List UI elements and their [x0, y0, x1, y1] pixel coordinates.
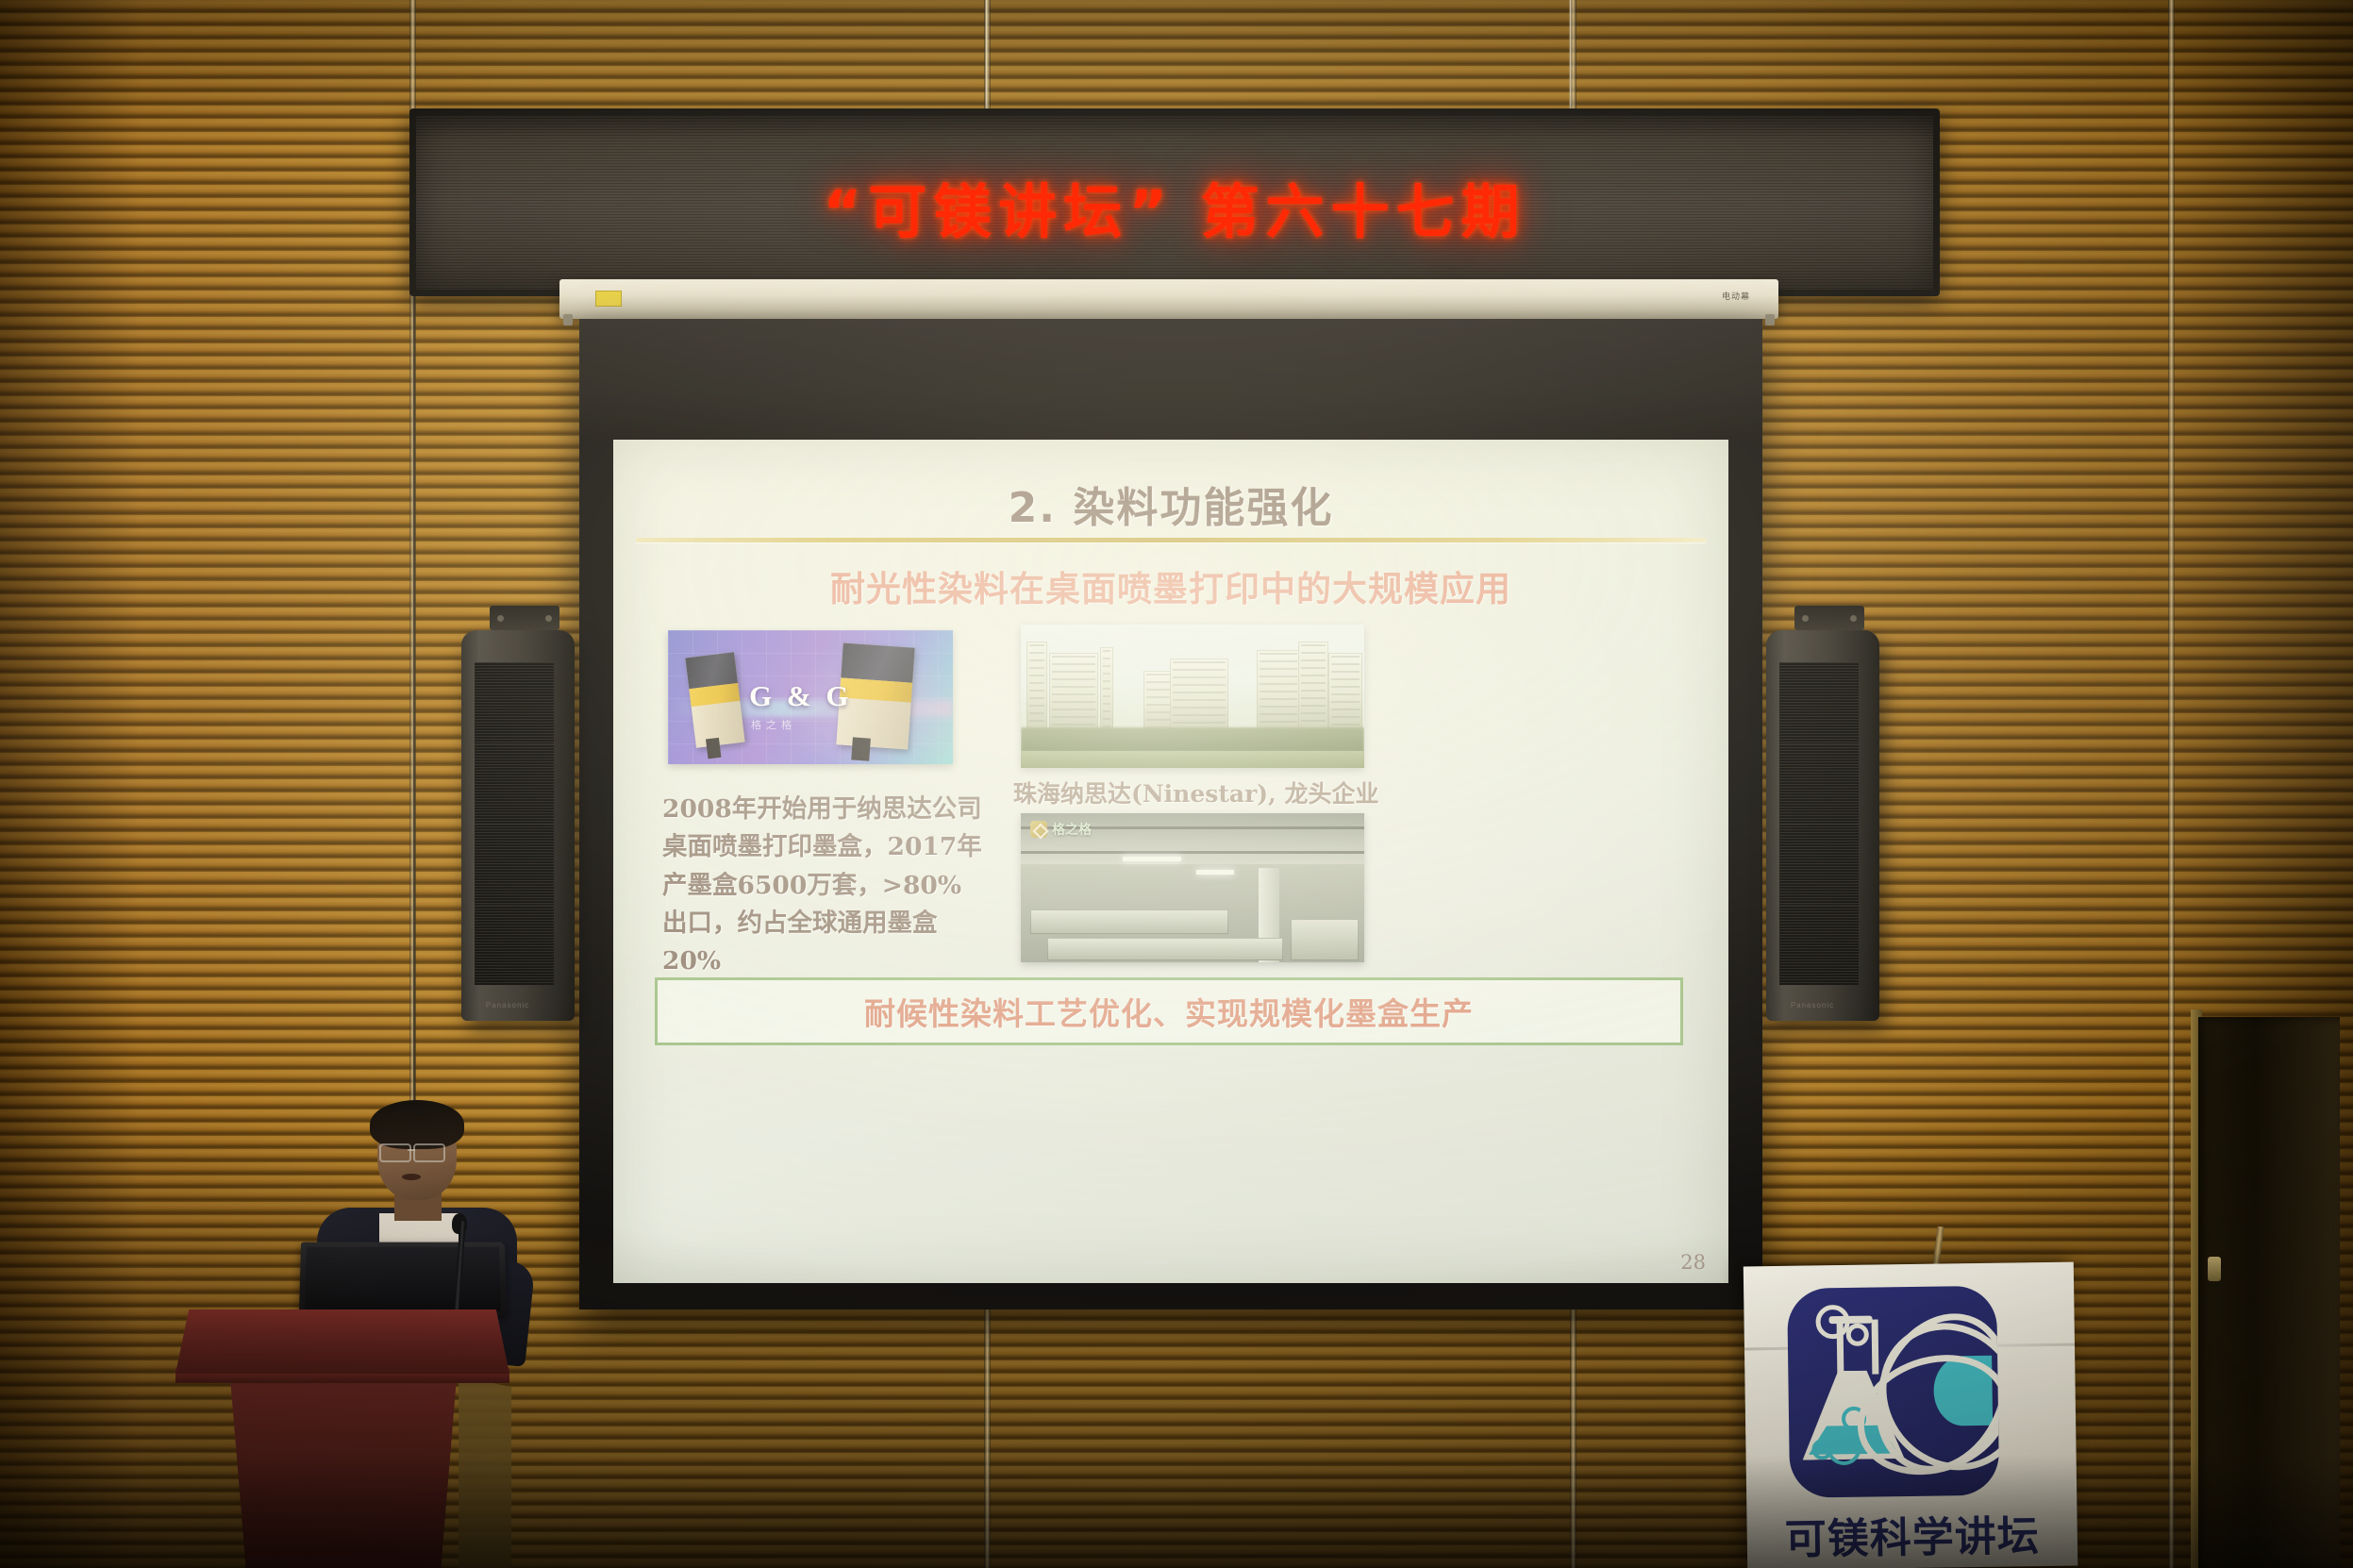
factory-interior-photo: 格之格	[1021, 813, 1364, 962]
mouth	[402, 1174, 421, 1180]
eyeglasses-left-lens	[379, 1143, 411, 1162]
floor-shadow	[0, 1455, 2353, 1568]
door-handle[interactable]	[2208, 1257, 2221, 1281]
photo-lawn	[1021, 751, 1364, 768]
wall-speaker-left: Panasonic	[461, 630, 575, 1021]
lectern-desktop	[175, 1309, 509, 1374]
production-line	[1030, 909, 1228, 934]
eyeglasses-bridge	[408, 1149, 415, 1151]
led-banner: “可镁讲坛” 第六十七期	[409, 108, 1940, 296]
slide-page-number: 28	[1680, 1251, 1706, 1274]
cartridge-nozzle	[706, 738, 721, 759]
title-divider	[636, 538, 1706, 542]
building	[1328, 653, 1362, 730]
building	[1049, 653, 1098, 730]
speaker-grille	[475, 662, 554, 985]
ceiling-lamp	[1123, 857, 1181, 861]
building	[1026, 642, 1047, 730]
slide-body-paragraph: 2008年开始用于纳思达公司桌面喷墨打印墨盒，2017年产墨盒6500万套，>8…	[662, 791, 983, 980]
housing-warning-label	[595, 291, 622, 307]
wall-speaker-right: Panasonic	[1766, 630, 1879, 1021]
slide-highlight-box: 耐候性染料工艺优化、实现规模化墨盒生产	[655, 977, 1683, 1045]
gg-logo-mark-icon	[1030, 821, 1047, 838]
photo-treeline	[1021, 727, 1364, 752]
hair	[370, 1100, 464, 1149]
roof-beam	[1021, 851, 1364, 854]
campus-photo	[1021, 625, 1364, 768]
projection-screen: 2. 染料功能强化 耐光性染料在桌面喷墨打印中的大规模应用 G & G	[579, 319, 1762, 1309]
housing-end-cap	[1765, 314, 1775, 325]
ninestar-caption: 珠海纳思达(Ninestar), 龙头企业	[1013, 776, 1391, 809]
projector-screen-housing[interactable]: 电动幕	[559, 279, 1778, 319]
slide-highlight-text: 耐候性染料工艺优化、实现规模化墨盒生产	[864, 989, 1474, 1034]
building	[1298, 642, 1328, 730]
speaker-mount-bracket	[1794, 606, 1864, 630]
speaker-grille	[1779, 662, 1859, 985]
cartridge-product-image: G & G 格之格	[668, 630, 953, 764]
laptop[interactable]	[299, 1243, 507, 1316]
housing-end-cap	[563, 314, 573, 325]
housing-brand-text: 电动幕	[1722, 290, 1750, 302]
production-line	[1047, 938, 1283, 960]
presentation-slide: 2. 染料功能强化 耐光性染料在桌面喷墨打印中的大规模应用 G & G	[613, 440, 1728, 1283]
speaker-brand-text: Panasonic	[1766, 1001, 1859, 1009]
wall-panel-seam	[2168, 0, 2175, 1568]
production-line	[1291, 919, 1359, 960]
ceiling-lamp	[1196, 870, 1234, 875]
gg-brand-label: G & G	[749, 679, 853, 713]
building	[1100, 647, 1113, 730]
gg-brand-sublabel: 格之格	[751, 717, 796, 732]
gg-watermark: 格之格	[1030, 820, 1092, 839]
building	[1170, 659, 1228, 730]
eyeglasses-right-lens	[413, 1143, 445, 1162]
slide-title: 2. 染料功能强化	[613, 474, 1728, 534]
speaker-mount-bracket	[490, 606, 559, 630]
gg-watermark-text: 格之格	[1052, 820, 1092, 839]
led-banner-text: “可镁讲坛” 第六十七期	[823, 164, 1526, 249]
building	[1257, 650, 1300, 730]
lecture-hall-photo: “可镁讲坛” 第六十七期 电动幕 2. 染料功能强化 耐光性染料在桌面喷墨打印中…	[0, 0, 2353, 1568]
cartridge-nozzle	[851, 738, 871, 761]
slide-subtitle: 耐光性染料在桌面喷墨打印中的大规模应用	[613, 560, 1728, 611]
ceiling-wire	[1569, 0, 1572, 111]
screen-black-drop	[579, 319, 1762, 440]
cartridge-top	[841, 642, 914, 682]
speaker-brand-text: Panasonic	[461, 1001, 554, 1009]
ceiling-wire	[985, 0, 988, 111]
